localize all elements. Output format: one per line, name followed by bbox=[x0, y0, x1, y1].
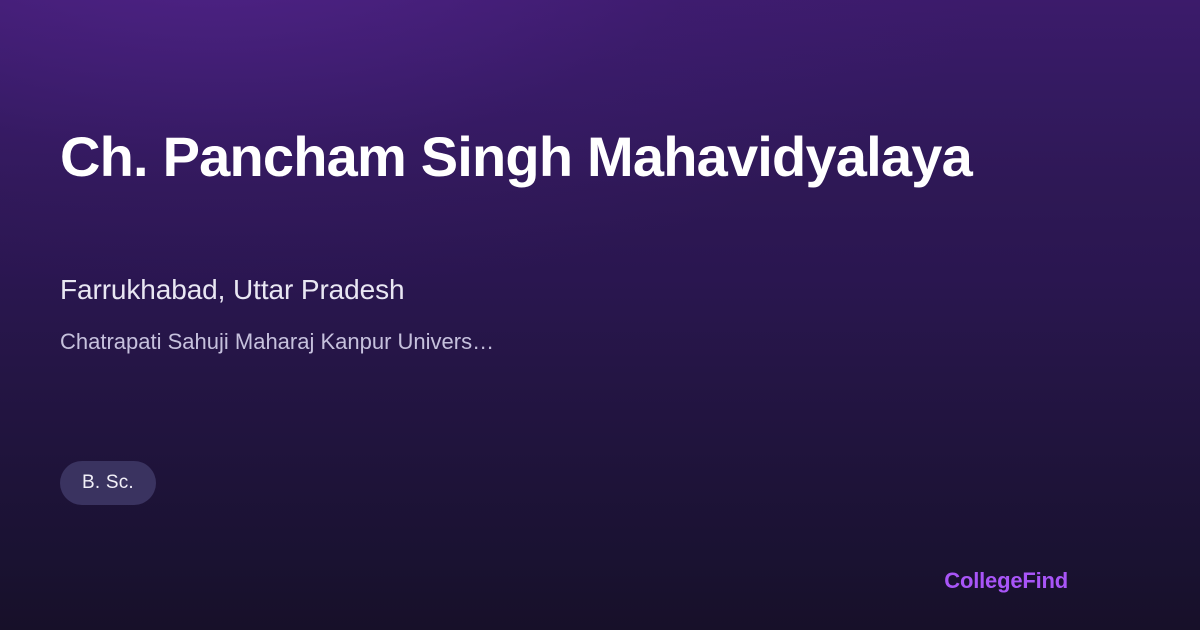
brand-logo-text: CollegeFind bbox=[944, 568, 1068, 594]
status-badge: B. Sc. bbox=[60, 461, 156, 505]
card-content: Ch. Pancham Singh Mahavidyalaya Farrukha… bbox=[60, 0, 1140, 630]
page-title: Ch. Pancham Singh Mahavidyalaya bbox=[60, 125, 1070, 189]
college-location: Farrukhabad, Uttar Pradesh bbox=[60, 272, 404, 308]
og-preview-card: Ch. Pancham Singh Mahavidyalaya Farrukha… bbox=[0, 0, 1200, 630]
affiliated-university: Chatrapati Sahuji Maharaj Kanpur Univers… bbox=[60, 327, 494, 357]
course-badge-list: B. Sc. bbox=[60, 461, 156, 505]
